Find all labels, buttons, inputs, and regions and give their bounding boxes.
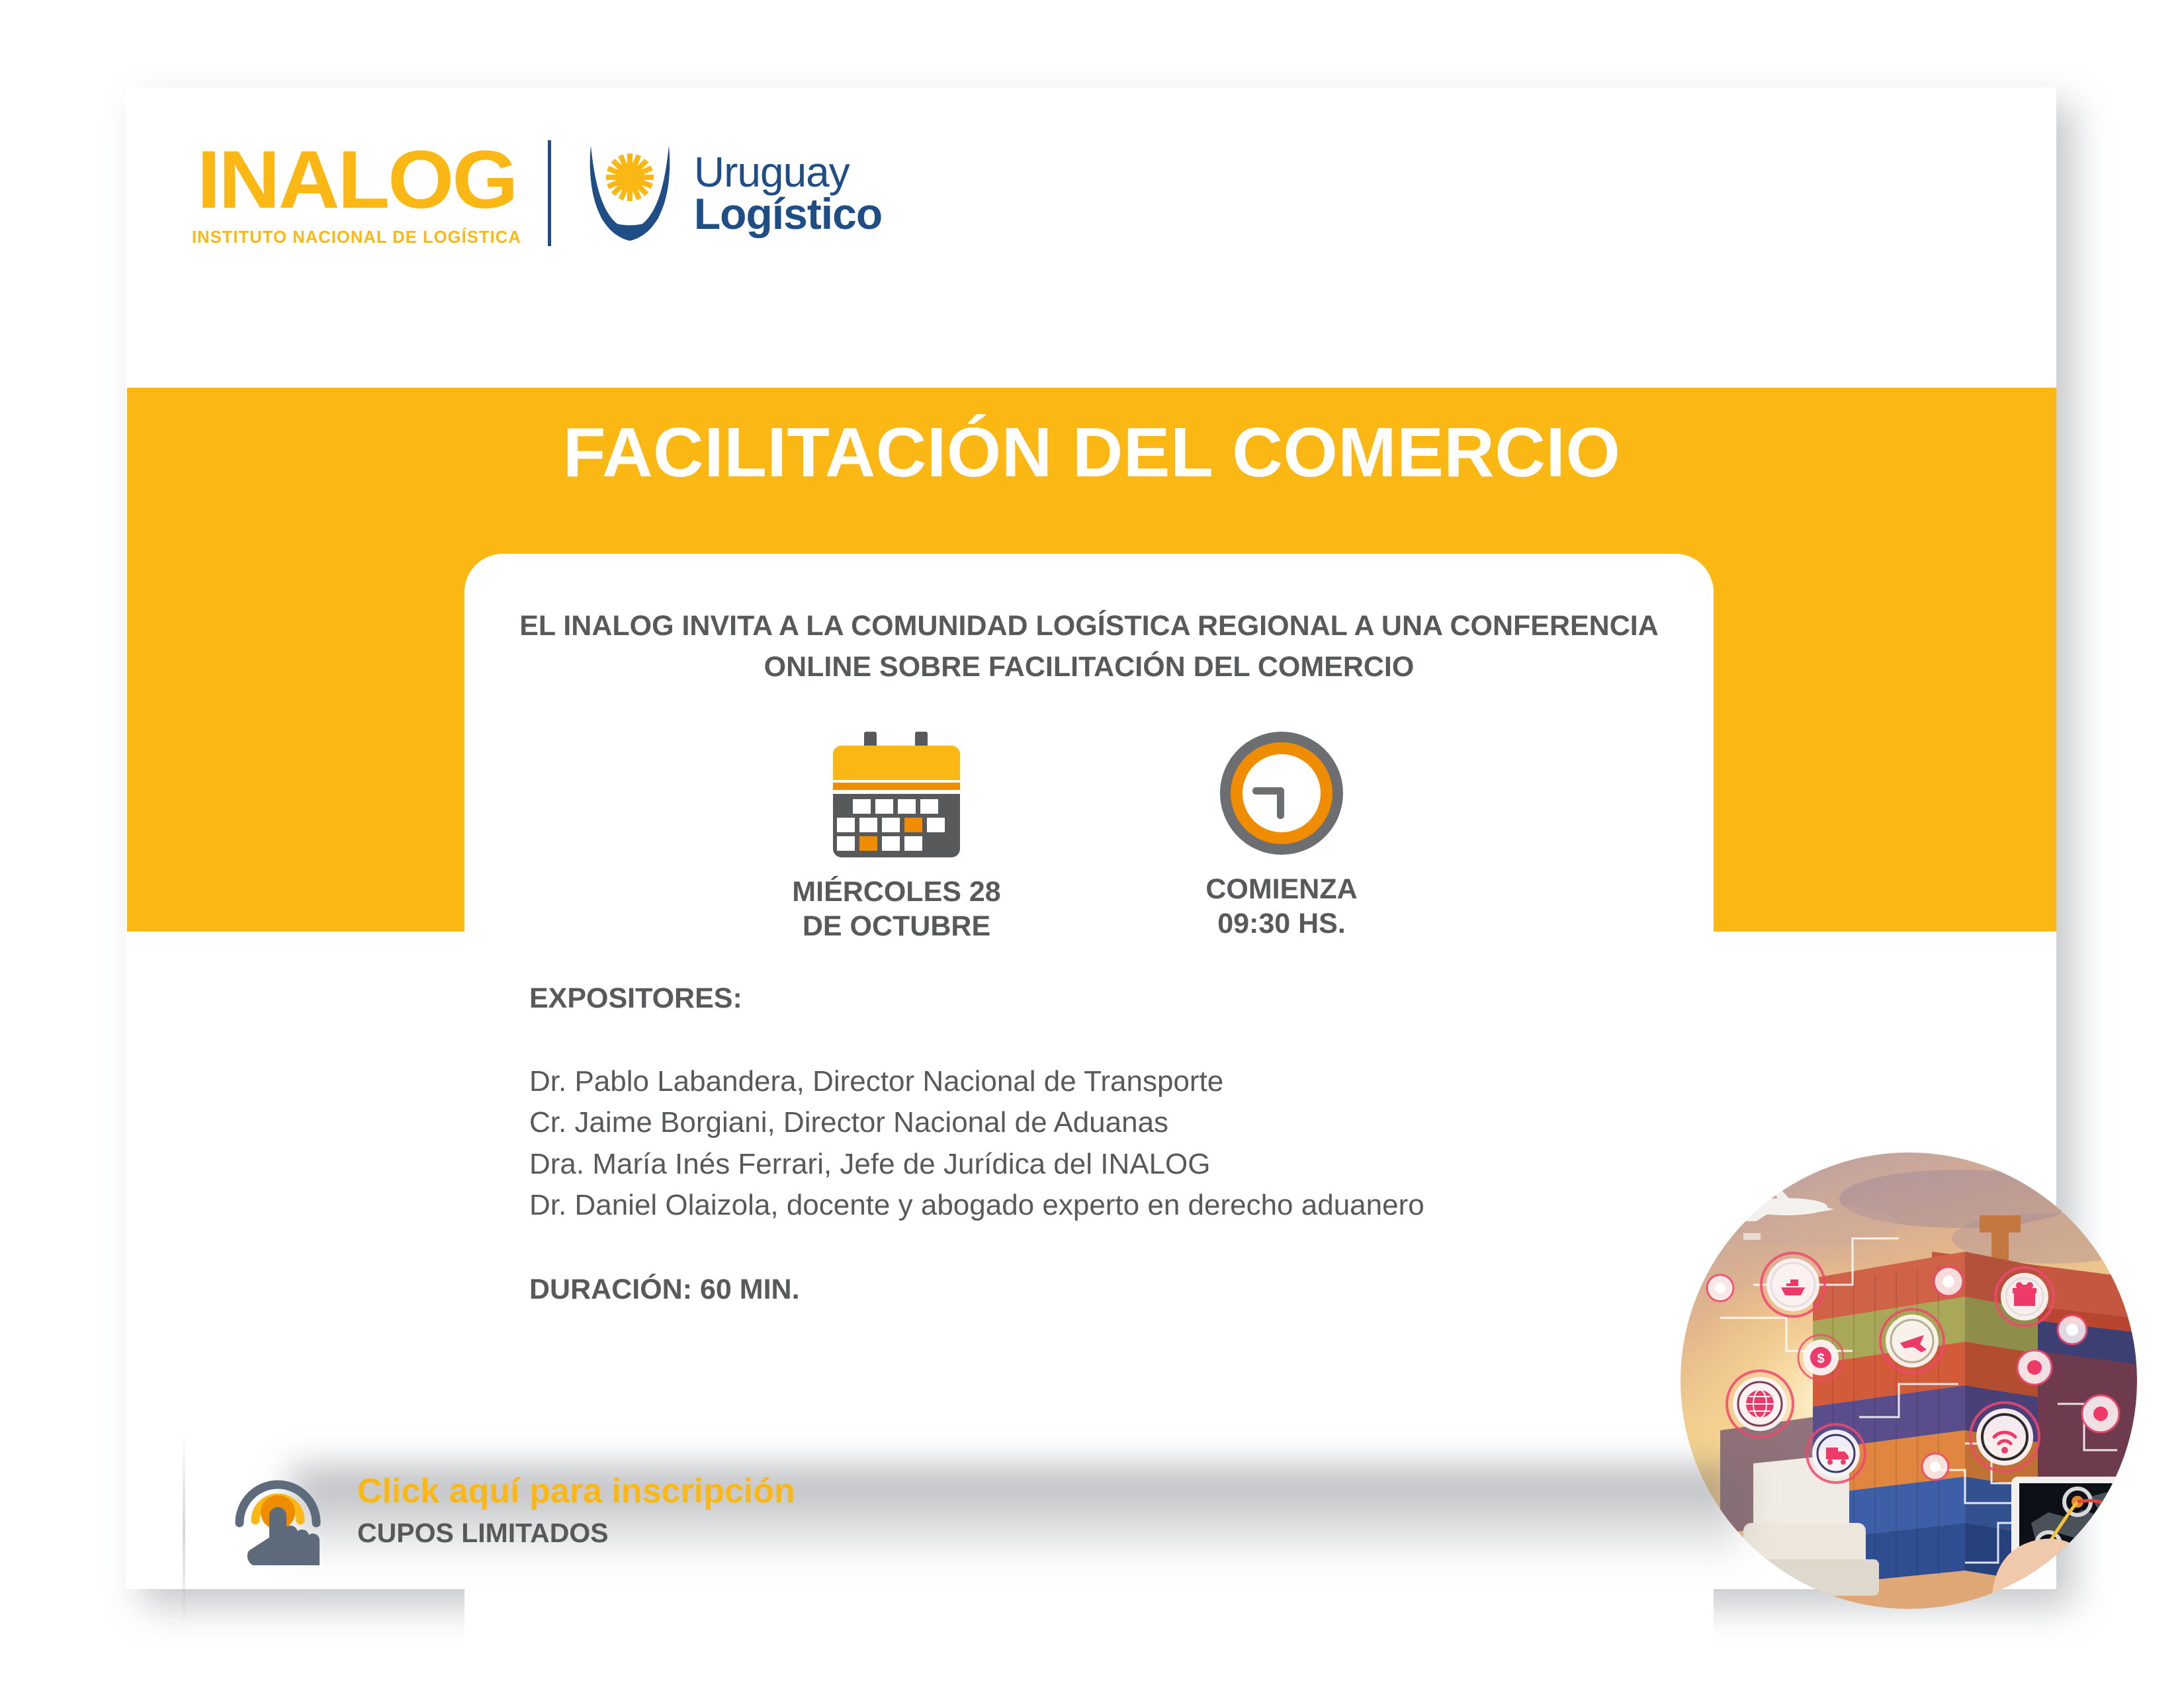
uruguay-sun-swoosh-icon [580, 140, 679, 246]
invitation-line-2: ONLINE SOBRE FACILITACIÓN DEL COMERCIO [464, 646, 1714, 687]
event-date-line-2: DE OCTUBRE [792, 909, 1000, 943]
cta-divider-line [183, 1432, 185, 1630]
event-time-line-1: COMIENZA [1205, 872, 1357, 906]
logistico-label: Logístico [694, 193, 882, 235]
speakers-list: Dr. Pablo Labandera, Director Nacional d… [529, 1061, 1714, 1227]
uruguay-logistico-wordmark: Uruguay Logístico [694, 151, 882, 235]
cta-primary-label: Click aquí para inscripción [357, 1471, 795, 1512]
speakers-heading: EXPOSITORES: [529, 982, 1714, 1015]
svg-text:$: $ [1817, 1352, 1824, 1366]
click-touch-icon [225, 1451, 331, 1569]
cta-secondary-label: CUPOS LIMITADOS [357, 1517, 795, 1549]
event-meta-row: MIÉRCOLES 28 DE OCTUBRE COMIENZA 0 [464, 732, 1714, 944]
list-item: Dr. Pablo Labandera, Director Nacional d… [529, 1061, 1714, 1102]
speakers-section: EXPOSITORES: Dr. Pablo Labandera, Direct… [464, 982, 1714, 1307]
poster-card: INALOG INSTITUTO NACIONAL DE LOGÍSTICA [126, 87, 2056, 1589]
cta-text-group: Click aquí para inscripción CUPOS LIMITA… [357, 1471, 795, 1549]
inalog-wordmark: INALOG [197, 139, 517, 221]
invitation-line-1: EL INALOG INVITA A LA COMUNIDAD LOGÍSTIC… [464, 605, 1714, 646]
inalog-logo: INALOG INSTITUTO NACIONAL DE LOGÍSTICA [192, 139, 521, 247]
invitation-text: EL INALOG INVITA A LA COMUNIDAD LOGÍSTIC… [464, 554, 1714, 688]
event-date-line-1: MIÉRCOLES 28 [792, 875, 1000, 909]
shipping-containers-logistics-network-photo: $ [1681, 1152, 2137, 1609]
list-item: Cr. Jaime Borgiani, Director Nacional de… [529, 1102, 1714, 1143]
registration-link[interactable]: Click aquí para inscripción CUPOS LIMITA… [225, 1451, 795, 1569]
uruguay-logistico-logo: Uruguay Logístico [580, 140, 882, 246]
uruguay-label: Uruguay [694, 151, 882, 193]
brand-header: INALOG INSTITUTO NACIONAL DE LOGÍSTICA [192, 127, 882, 259]
inalog-tagline: INSTITUTO NACIONAL DE LOGÍSTICA [192, 228, 521, 247]
event-date-block: MIÉRCOLES 28 DE OCTUBRE [777, 732, 1016, 944]
list-item: Dra. María Inés Ferrari, Jefe de Jurídic… [529, 1144, 1714, 1185]
event-time-block: COMIENZA 09:30 HS. [1162, 732, 1401, 944]
event-time-line-2: 09:30 HS. [1205, 906, 1357, 941]
logo-divider [548, 140, 551, 246]
calendar-icon [833, 732, 960, 857]
event-date-caption: MIÉRCOLES 28 DE OCTUBRE [792, 875, 1000, 944]
clock-icon [1220, 732, 1343, 855]
page-title: FACILITACIÓN DEL COMERCIO [127, 413, 2056, 493]
duration-text: DURACIÓN: 60 MIN. [529, 1274, 1714, 1306]
list-item: Dr. Daniel Olaizola, docente y abogado e… [529, 1185, 1714, 1226]
event-time-caption: COMIENZA 09:30 HS. [1205, 872, 1357, 941]
